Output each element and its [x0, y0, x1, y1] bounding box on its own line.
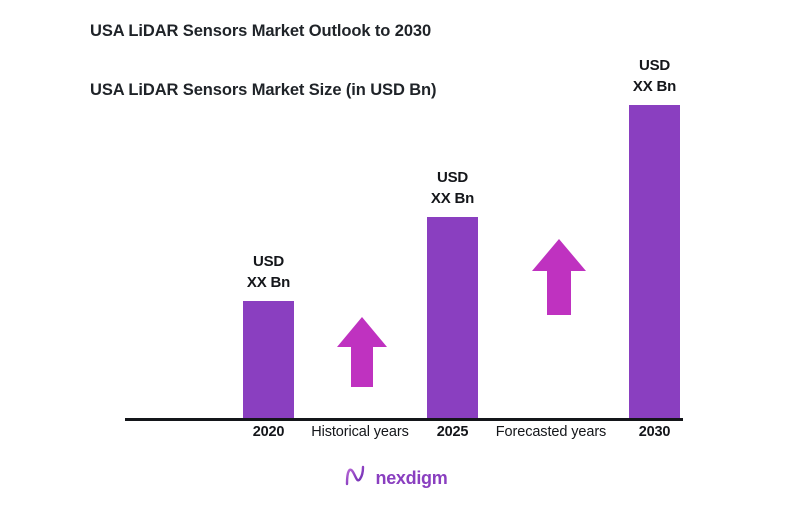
growth-arrow-icon-1	[336, 316, 388, 393]
plot-area: USD XX Bn USD XX Bn USD XX Bn	[0, 0, 790, 513]
bar-label-2020-line1: USD	[213, 252, 324, 273]
bar-2025	[427, 217, 478, 418]
brand-logo: nexdigm	[0, 464, 790, 493]
x-tick-2030: 2030	[612, 424, 697, 440]
bar-2030	[629, 105, 680, 418]
growth-arrow-icon-2	[531, 238, 587, 321]
bar-2020	[243, 301, 294, 418]
x-tick-historical-years: Historical years	[294, 424, 426, 440]
bar-label-2025-line1: USD	[397, 168, 508, 189]
bar-label-2020-line2: XX Bn	[213, 273, 324, 294]
chart-canvas: USA LiDAR Sensors Market Outlook to 2030…	[0, 0, 790, 513]
x-tick-forecasted-years: Forecasted years	[480, 424, 622, 440]
bar-label-2025-line2: XX Bn	[397, 189, 508, 210]
bar-label-2025: USD XX Bn	[397, 168, 508, 209]
nexdigm-n-mark-icon	[343, 464, 369, 493]
x-axis-line	[125, 418, 683, 421]
bar-label-2030: USD XX Bn	[599, 56, 710, 97]
bar-label-2020: USD XX Bn	[213, 252, 324, 293]
brand-name: nexdigm	[376, 468, 448, 489]
bar-label-2030-line1: USD	[599, 56, 710, 77]
bar-label-2030-line2: XX Bn	[599, 77, 710, 98]
